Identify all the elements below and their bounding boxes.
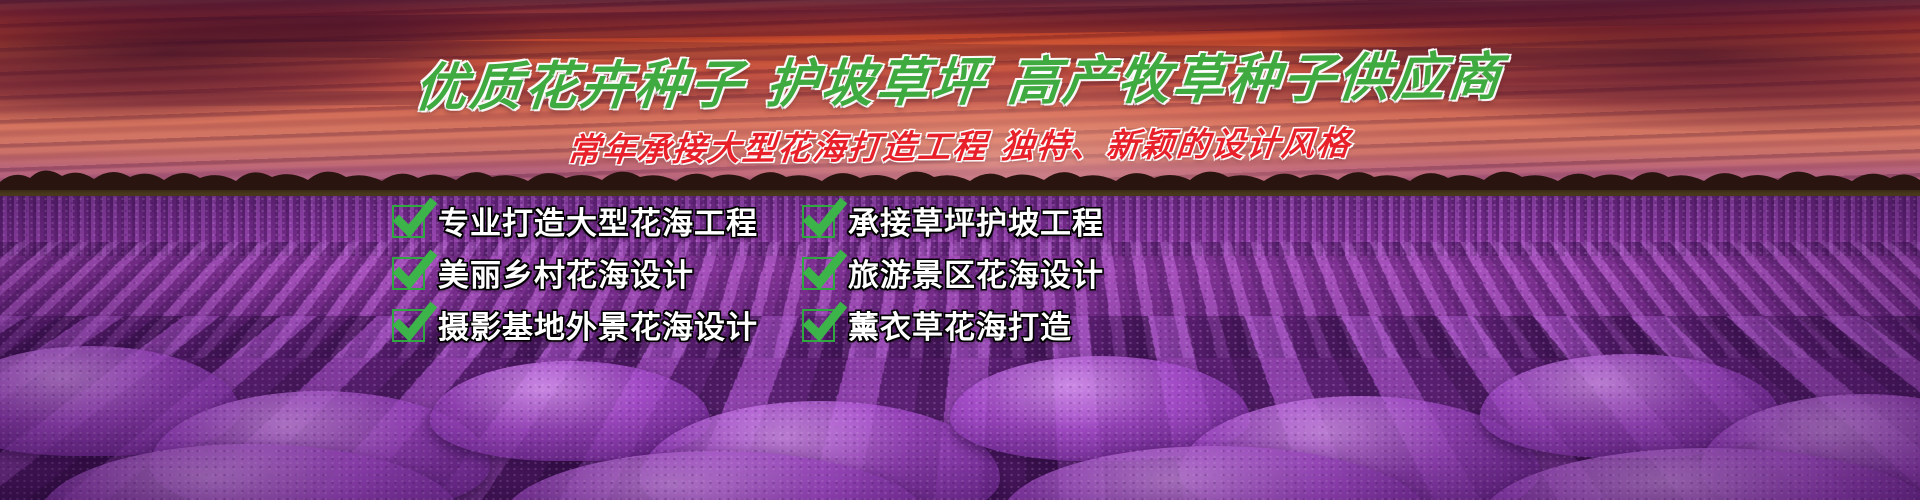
feature-checklist: 专业打造大型花海工程 承接草坪护坡工程 美丽乡村花海设计 [390,196,1170,348]
promo-banner: 优质花卉种子 护坡草坪 高产牧草种子供应商 常年承接大型花海打造工程 独特、新颖… [0,0,1920,500]
checklist-item-label: 承接草坪护坡工程 [848,198,1104,243]
check-mark-icon [390,252,430,292]
check-mark-icon [800,252,840,292]
checklist-item: 美丽乡村花海设计 [390,250,800,295]
checklist-item-label: 专业打造大型花海工程 [438,198,758,243]
checklist-item-label: 旅游景区花海设计 [848,250,1104,295]
checklist-item-label: 薰衣草花海打造 [848,302,1072,347]
check-mark-icon [390,304,430,344]
checklist-row: 专业打造大型花海工程 承接草坪护坡工程 [390,196,1170,244]
checklist-row: 摄影基地外景花海设计 薰衣草花海打造 [390,300,1170,348]
checklist-item: 薰衣草花海打造 [800,302,1170,347]
checklist-item-label: 摄影基地外景花海设计 [438,302,758,347]
checklist-item: 摄影基地外景花海设计 [390,302,800,347]
checklist-item: 承接草坪护坡工程 [800,198,1170,243]
check-mark-icon [800,200,840,240]
check-mark-icon [800,304,840,344]
checklist-item: 专业打造大型花海工程 [390,198,800,243]
checklist-row: 美丽乡村花海设计 旅游景区花海设计 [390,248,1170,296]
checklist-item: 旅游景区花海设计 [800,250,1170,295]
check-mark-icon [390,200,430,240]
treeline-silhouette [0,160,1920,194]
checklist-item-label: 美丽乡村花海设计 [438,250,694,295]
